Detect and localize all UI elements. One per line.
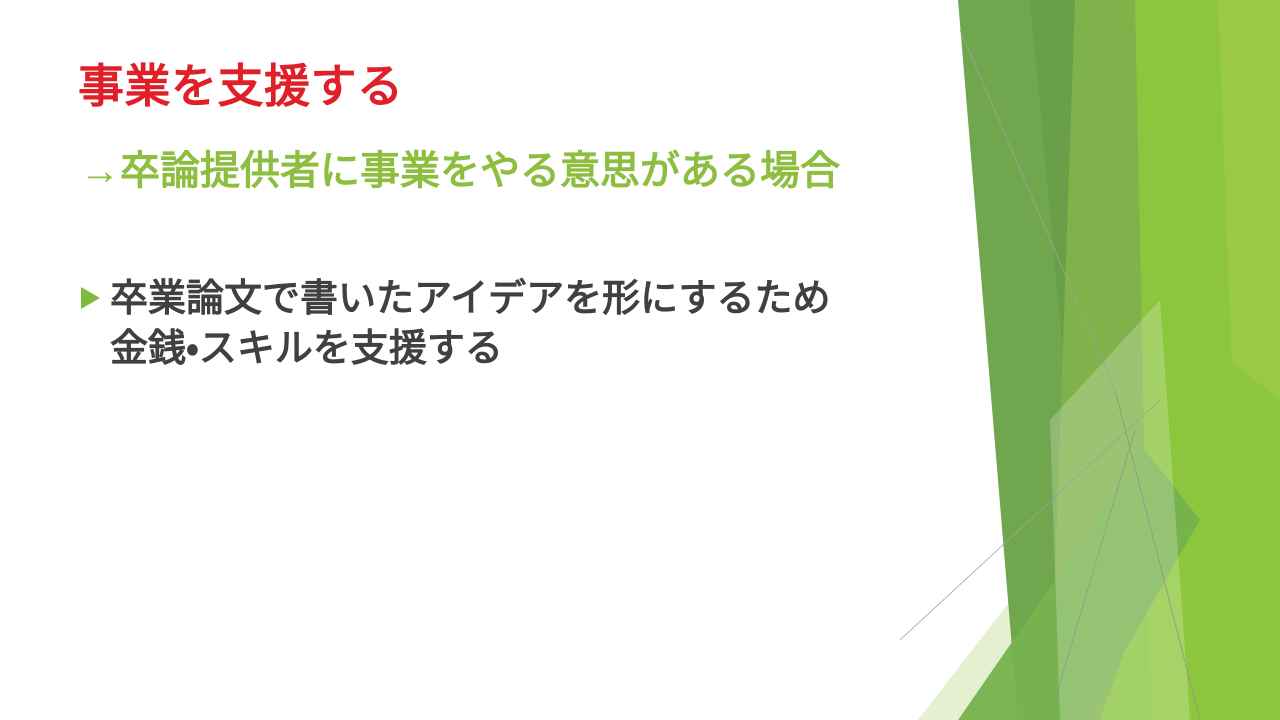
slide-body: 卒業論文で書いたアイデアを形にするため 金銭・スキルを支援する [80,274,960,374]
facet-shape-lower-mid [958,450,1200,720]
facet-shape-pale-lower [918,420,1200,720]
facet-shape-lower-bright [1100,360,1280,720]
slide-subtitle: →卒論提供者に事業をやる意思がある場合 [80,148,840,194]
bullet-line-1: 卒業論文で書いたアイデアを形にするため [110,274,960,324]
presentation-slide: 事業を支援する →卒論提供者に事業をやる意思がある場合 卒業論文で書いたアイデア… [0,0,1280,720]
bullet-line-2: 金銭・スキルを支援する [110,324,960,374]
facet-shape-pale-lower-2 [995,440,1280,720]
facet-shape-dark-upper-shade [1030,0,1150,640]
facet-shape-bright [1135,0,1280,720]
bullet-text-lines: 卒業論文で書いたアイデアを形にするため 金銭・スキルを支援する [110,274,960,374]
facet-shape-dark-upper [958,0,1135,720]
facet-hairline-upper [960,30,1115,390]
triangle-bullet-icon [80,286,102,310]
facet-shape-mid [1050,0,1200,720]
bullet-item: 卒業論文で書いたアイデアを形にするため 金銭・スキルを支援する [80,274,960,374]
slide-title: 事業を支援する [78,60,404,113]
facet-hairline-mid [1115,390,1200,720]
facet-hairline-lower-2 [1055,430,1135,700]
facet-shape-bright-right [1218,0,1280,720]
facet-shape-overlay-pale [1050,300,1190,720]
facet-hairline-lower [900,400,1160,640]
